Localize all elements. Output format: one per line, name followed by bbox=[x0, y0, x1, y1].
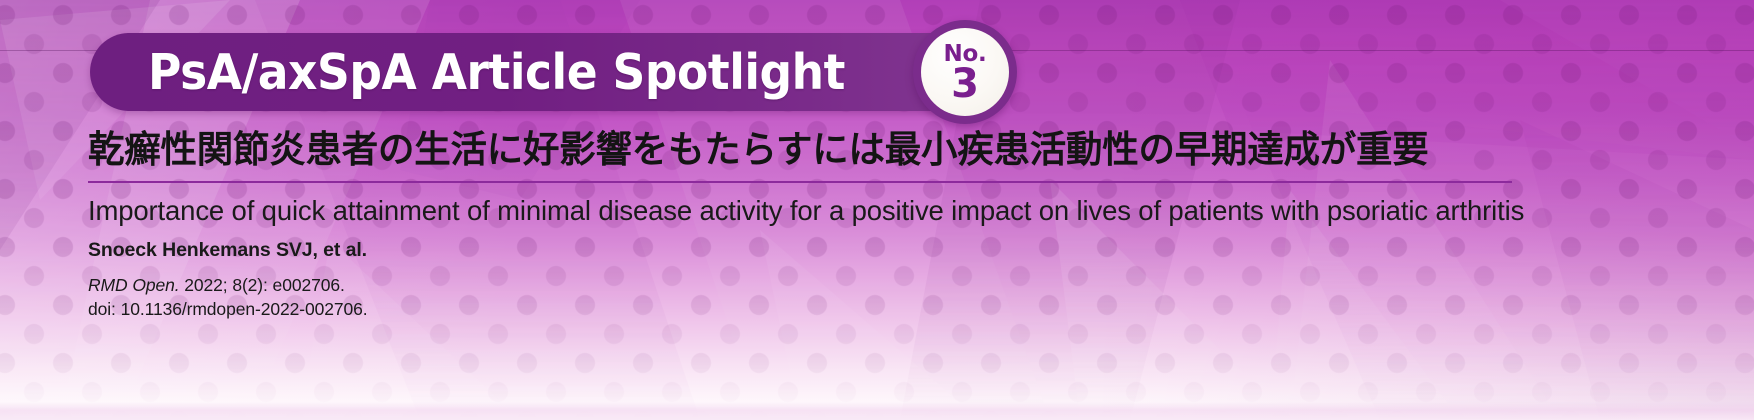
citation-journal-name: RMD Open. bbox=[88, 275, 180, 295]
bottom-fade-band bbox=[0, 402, 1754, 420]
citation-journal-details: 2022; 8(2): e002706. bbox=[180, 275, 345, 295]
issue-number-badge-face: No. 3 bbox=[921, 28, 1009, 116]
article-authors: Snoeck Henkemans SVJ, et al. bbox=[88, 239, 1688, 262]
spotlight-pill-label: PsA/axSpA Article Spotlight bbox=[148, 48, 845, 97]
issue-number-value: 3 bbox=[951, 64, 979, 104]
citation-journal-line: RMD Open. 2022; 8(2): e002706. bbox=[88, 274, 1688, 297]
spotlight-pill: PsA/axSpA Article Spotlight bbox=[90, 33, 1010, 111]
article-spotlight-banner: PsA/axSpA Article Spotlight No. 3 乾癬性関節炎… bbox=[0, 0, 1754, 420]
title-divider-rule bbox=[88, 181, 1512, 183]
issue-number-badge: No. 3 bbox=[913, 20, 1017, 124]
article-content: 乾癬性関節炎患者の生活に好影響をもたらすには最小疾患活動性の早期達成が重要 Im… bbox=[88, 128, 1688, 321]
citation-doi: doi: 10.1136/rmdopen-2022-002706. bbox=[88, 298, 1688, 321]
article-title-english: Importance of quick attainment of minima… bbox=[88, 194, 1528, 229]
article-title-japanese: 乾癬性関節炎患者の生活に好影響をもたらすには最小疾患活動性の早期達成が重要 bbox=[88, 128, 1664, 172]
article-citation: RMD Open. 2022; 8(2): e002706. doi: 10.1… bbox=[88, 274, 1688, 321]
